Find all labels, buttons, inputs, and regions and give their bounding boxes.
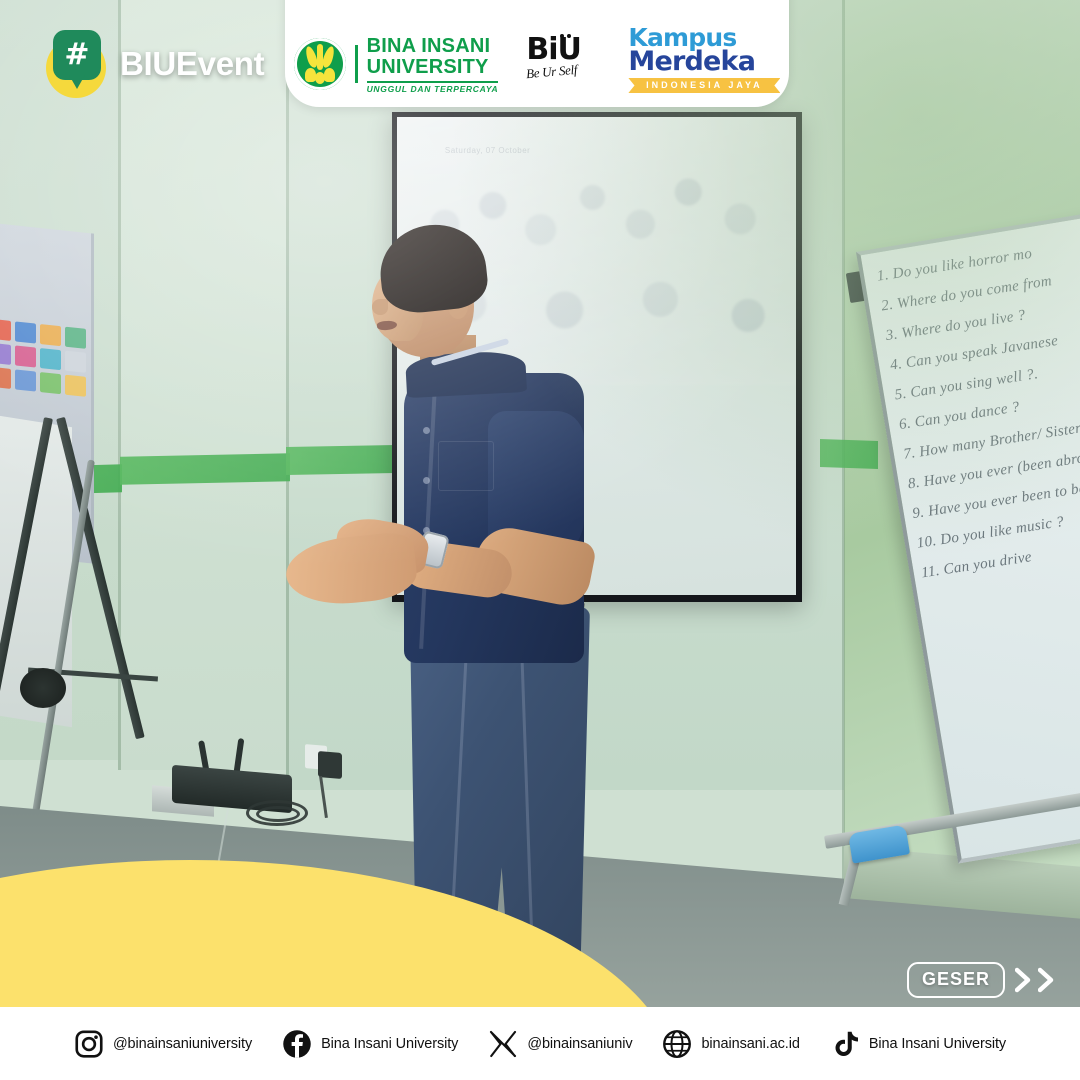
- university-wordmark: BINA INSANI UNIVERSITY UNGGUL DAN TERPER…: [367, 36, 499, 94]
- wall-accent-stripe: [820, 439, 878, 469]
- social-instagram[interactable]: @binainsaniuniversity: [74, 1029, 252, 1059]
- social-website[interactable]: binainsani.ac.id: [662, 1029, 799, 1059]
- easel-foot: [20, 668, 66, 708]
- wall-accent-stripe: [120, 453, 290, 485]
- social-footer: @binainsaniuniversity Bina Insani Univer…: [0, 1007, 1080, 1080]
- tiktok-icon: [830, 1029, 860, 1059]
- biu-dots-icon: [560, 34, 571, 38]
- x-handle: @binainsaniuniv: [527, 1036, 632, 1052]
- website-url: binainsani.ac.id: [701, 1036, 799, 1052]
- logo-kampus-merdeka: Kampus Merdeka INDONESIA JAYA: [628, 26, 780, 93]
- geser-label[interactable]: GESER: [907, 962, 1005, 998]
- facebook-handle: Bina Insani University: [321, 1036, 458, 1052]
- wall-pillar: [118, 0, 288, 770]
- hashtag-badge-icon: #: [42, 30, 110, 98]
- person-hair: [376, 220, 490, 317]
- event-photo: Saturday, 07 October 1. Do you like horr…: [0, 0, 1080, 1007]
- tiktok-handle: Bina Insani University: [869, 1036, 1006, 1052]
- swipe-cta[interactable]: GESER: [907, 962, 1060, 998]
- whiteboard-handwriting: 1. Do you like horror mo 2. Where do you…: [876, 234, 1080, 583]
- logo-bina-insani-university: BINA INSANI UNIVERSITY UNGGUL DAN TERPER…: [294, 36, 499, 94]
- hashtag-glyph: #: [53, 30, 101, 80]
- double-chevron-right-icon[interactable]: [1015, 967, 1060, 993]
- university-seal-icon: [294, 38, 346, 90]
- post-canvas: Saturday, 07 October 1. Do you like horr…: [0, 0, 1080, 1080]
- biu-event-label: BIUEvent: [120, 45, 264, 83]
- biu-event-badge: # BIUEvent: [42, 30, 264, 98]
- shirt-pocket: [438, 441, 494, 491]
- x-twitter-icon: [488, 1029, 518, 1059]
- university-tagline: UNGGUL DAN TERPERCAYA: [367, 81, 499, 94]
- social-facebook[interactable]: Bina Insani University: [282, 1029, 458, 1059]
- social-tiktok[interactable]: Bina Insani University: [830, 1029, 1006, 1059]
- person-nose: [372, 299, 388, 315]
- person-hand-left: [283, 530, 419, 609]
- university-name-line1: BINA INSANI: [367, 36, 499, 56]
- logo-panel: BINA INSANI UNIVERSITY UNGGUL DAN TERPER…: [285, 0, 789, 107]
- instagram-icon: [74, 1029, 104, 1059]
- logo-biu-be-ur-self: BiU Be Ur Self: [526, 35, 600, 93]
- social-x-twitter[interactable]: @binainsaniuniv: [488, 1029, 632, 1059]
- instagram-handle: @binainsaniuniversity: [113, 1036, 252, 1052]
- shirt-button: [423, 427, 430, 434]
- logo-divider: [355, 45, 358, 83]
- shirt-button: [423, 477, 430, 484]
- kampus-merdeka-line2: Merdeka: [628, 50, 780, 75]
- facebook-icon: [282, 1029, 312, 1059]
- kampus-merdeka-ribbon: INDONESIA JAYA: [628, 78, 780, 93]
- globe-icon: [662, 1029, 692, 1059]
- university-name-line2: UNIVERSITY: [367, 57, 499, 77]
